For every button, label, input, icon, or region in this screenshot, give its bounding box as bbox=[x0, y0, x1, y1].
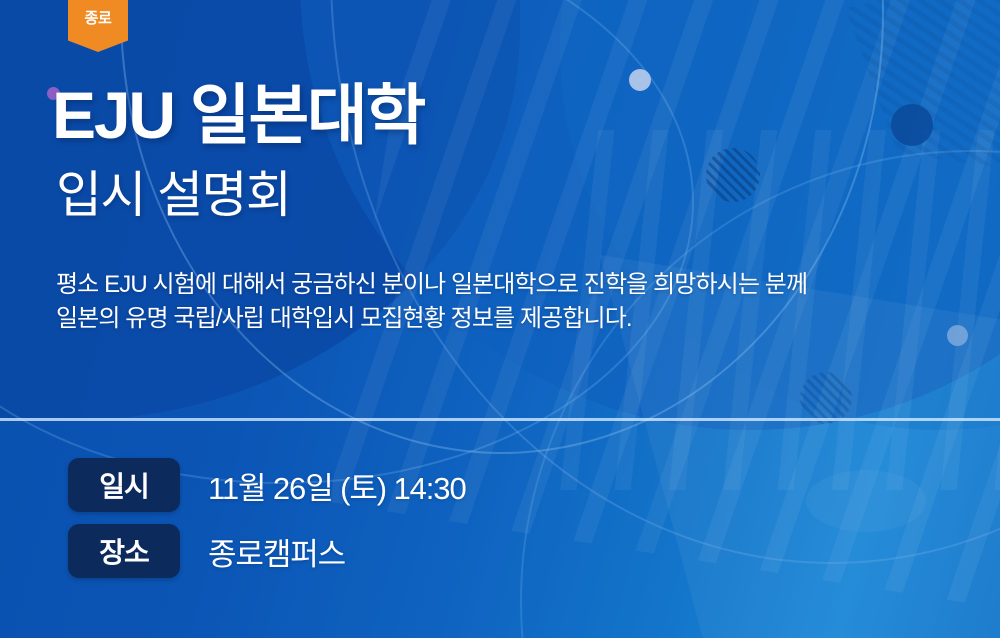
campus-ribbon-label: 종로 bbox=[84, 0, 111, 26]
event-info-list: 일시 11월 26일 (토) 14:30 장소 종로캠퍼스 bbox=[68, 458, 466, 590]
page-title: EJU 일본대학 bbox=[52, 82, 424, 148]
page-subtitle: 입시 설명회 bbox=[56, 168, 290, 223]
info-value-datetime: 11월 26일 (토) 14:30 bbox=[208, 463, 466, 508]
info-label-badge-location: 장소 bbox=[68, 524, 180, 578]
banner-content: EJU 일본대학 입시 설명회 평소 EJU 시험에 대해서 궁금하신 분이나 … bbox=[0, 0, 1000, 638]
section-divider bbox=[0, 418, 1000, 421]
info-label-badge-datetime: 일시 bbox=[68, 458, 180, 512]
description-line-1: 평소 EJU 시험에 대해서 궁금하신 분이나 일본대학으로 진학을 희망하시는… bbox=[56, 268, 976, 302]
info-row-location: 장소 종로캠퍼스 bbox=[68, 524, 466, 578]
description-text: 평소 EJU 시험에 대해서 궁금하신 분이나 일본대학으로 진학을 희망하시는… bbox=[56, 268, 976, 336]
info-value-location: 종로캠퍼스 bbox=[208, 529, 345, 574]
description-line-2: 일본의 유명 국립/사립 대학입시 모집현황 정보를 제공합니다. bbox=[56, 302, 976, 336]
info-row-datetime: 일시 11월 26일 (토) 14:30 bbox=[68, 458, 466, 512]
eju-seminar-banner: 종로 EJU 일본대학 입시 설명회 평소 EJU 시험에 대해서 궁금하신 분… bbox=[0, 0, 1000, 638]
